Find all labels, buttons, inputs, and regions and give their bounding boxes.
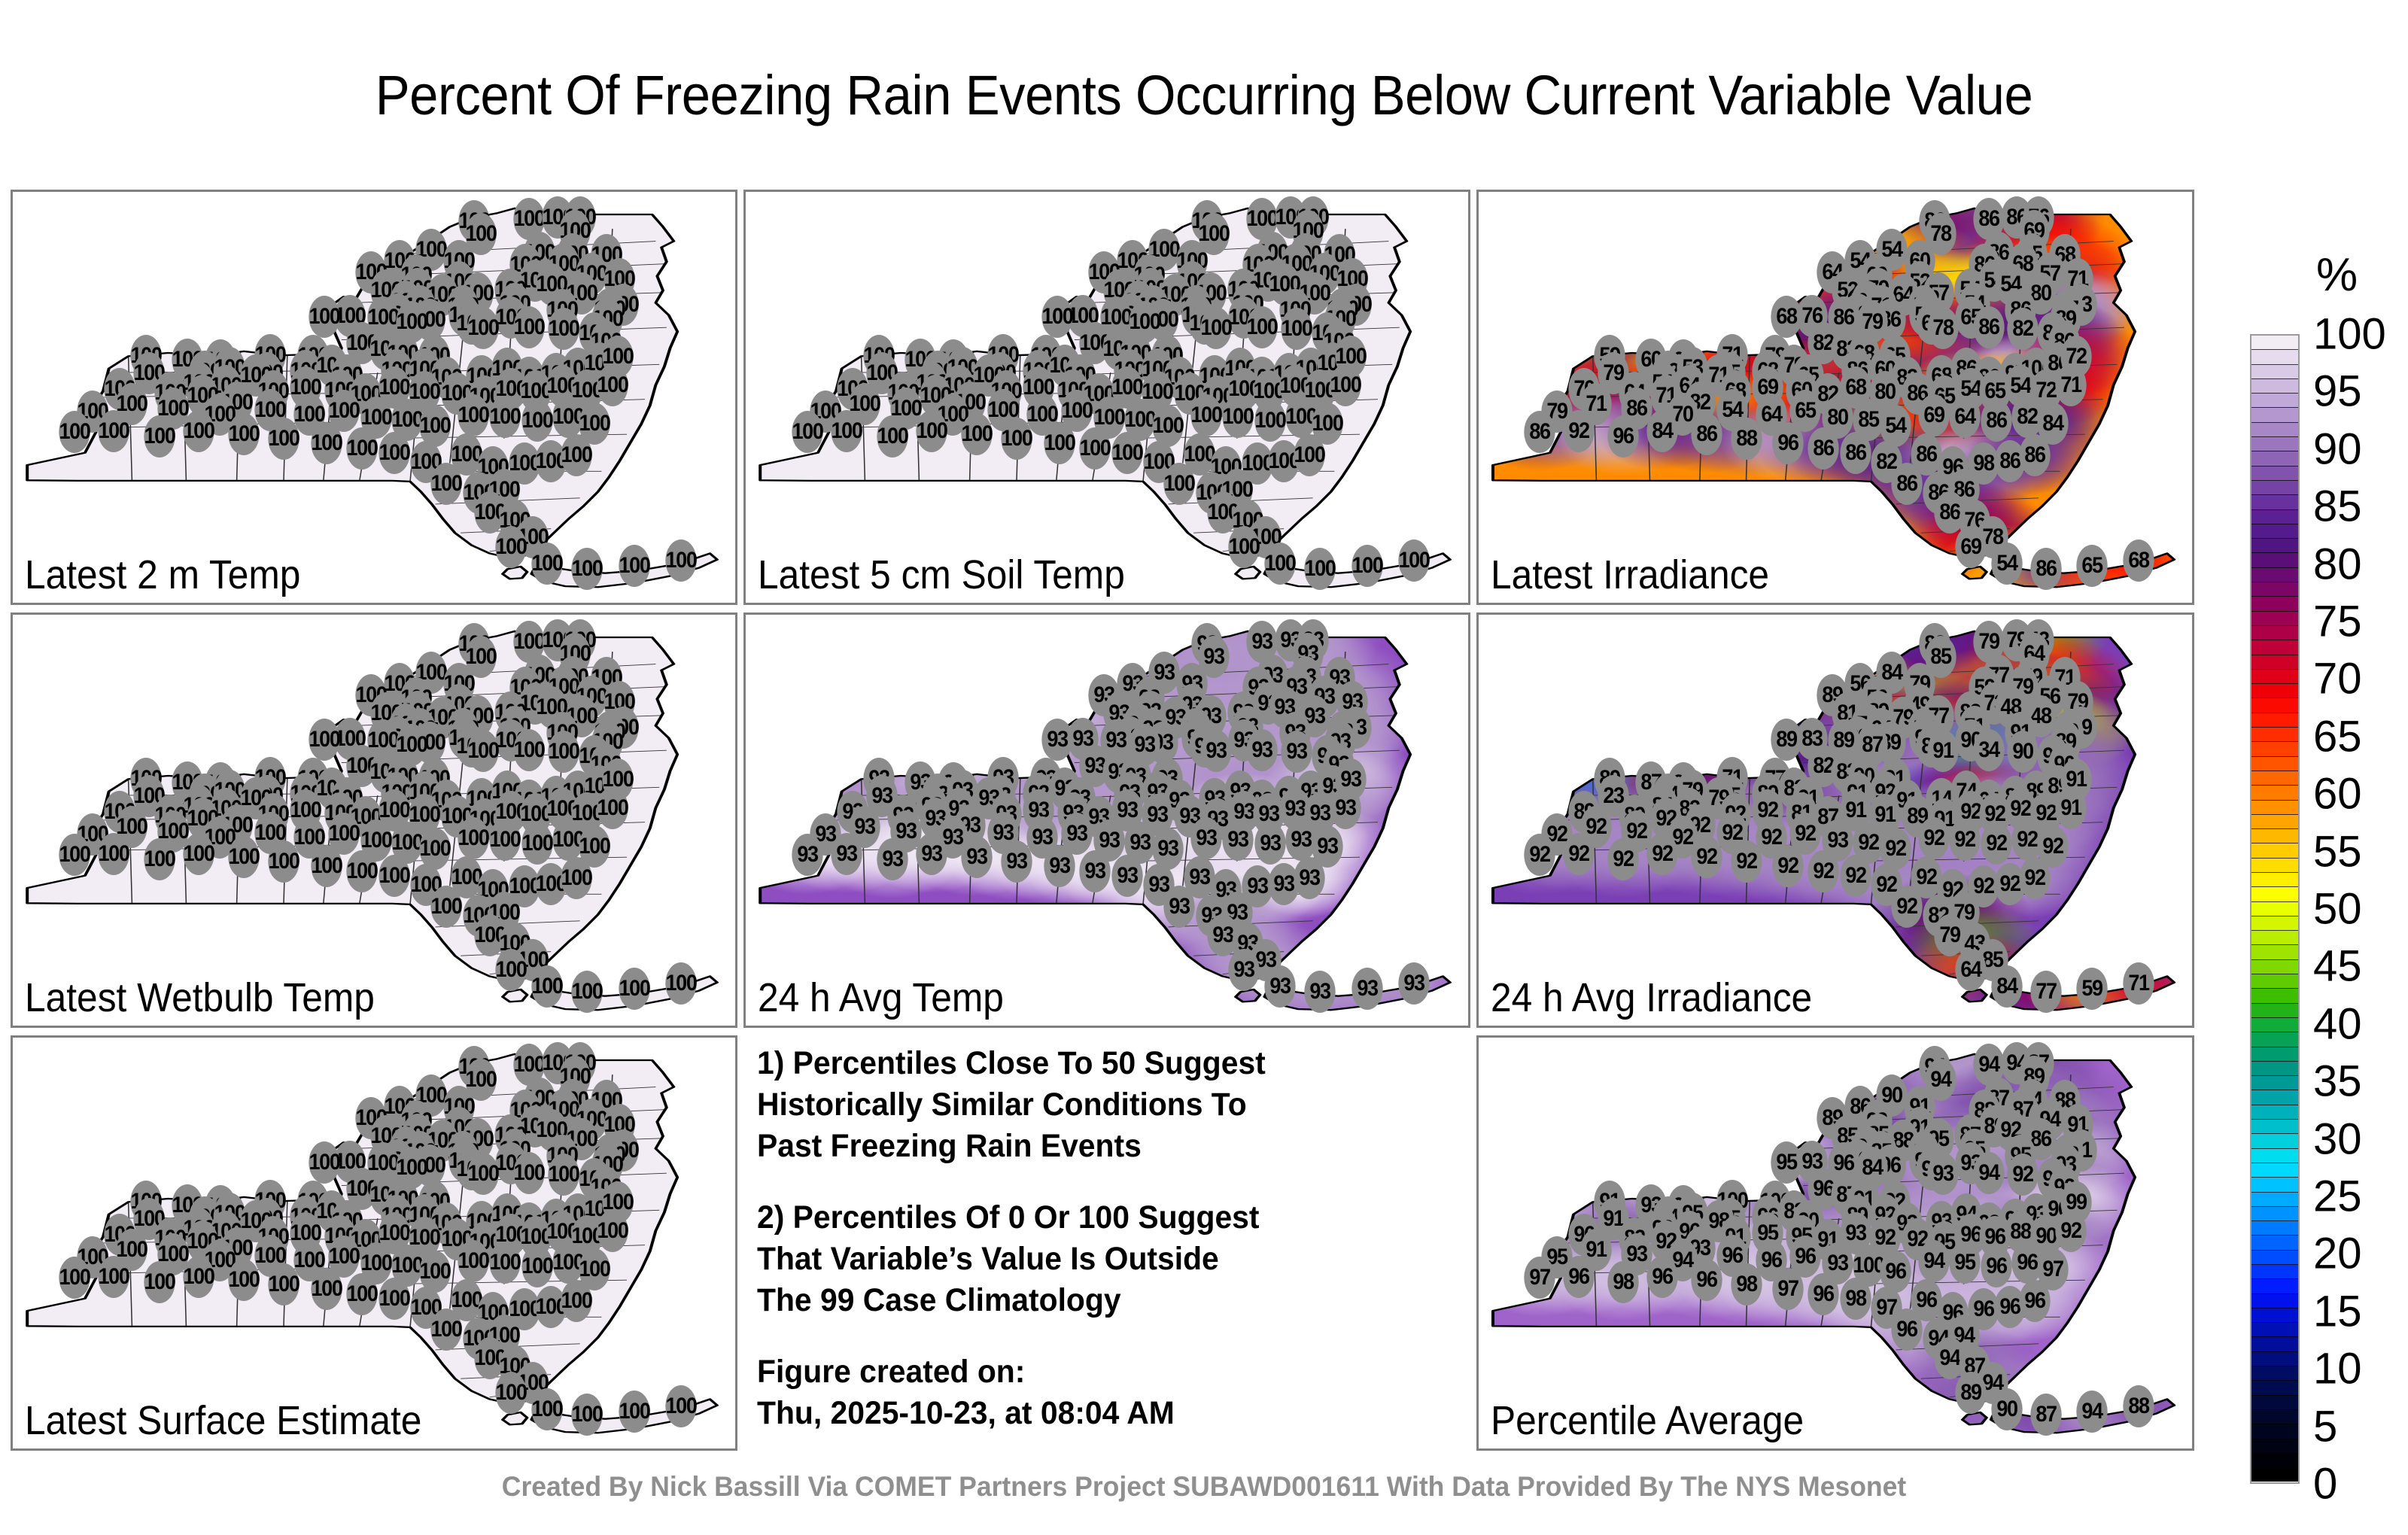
colorbar-tick-label: 80 (2313, 539, 2362, 589)
map-avg-24h-temp (746, 615, 1468, 1026)
colorbar-band (2251, 843, 2298, 858)
colorbar-band (2251, 365, 2298, 379)
colorbar-band (2251, 1062, 2298, 1076)
colorbar-tick-label: 50 (2313, 884, 2362, 935)
colorbar-band (2251, 655, 2298, 670)
colorbar-tick-label: 25 (2313, 1172, 2362, 1222)
colorbar-band (2251, 1047, 2298, 1062)
colorbar-band (2251, 379, 2298, 394)
colorbar-band (2251, 801, 2298, 815)
colorbar-band (2251, 1105, 2298, 1120)
note-note2: 2) Percentiles Of 0 Or 100 Suggest That … (757, 1197, 1435, 1321)
panel-avg-24h-temp: 9393939393939393939393939393939393939393… (743, 612, 1470, 1028)
colorbar-band (2251, 467, 2298, 481)
colorbar-band (2251, 1076, 2298, 1090)
credit-line: Created By Nick Bassill Via COMET Partne… (48, 1471, 2360, 1503)
colorbar-band (2251, 1207, 2298, 1221)
colorbar-band (2251, 350, 2298, 364)
colorbar-band (2251, 989, 2298, 1003)
colorbar-band (2251, 1120, 2298, 1134)
colorbar-band (2251, 1236, 2298, 1250)
colorbar-band (2251, 394, 2298, 408)
panel-latest-wetbulb-temp: 1001001001001001001001001001001001001001… (11, 612, 737, 1028)
colorbar-band (2251, 713, 2298, 728)
map-latest-5cm-soil-temp (746, 192, 1468, 603)
colorbar-band (2251, 1163, 2298, 1178)
colorbar-band (2251, 771, 2298, 786)
colorbar-band (2251, 1352, 2298, 1366)
colorbar-band (2251, 1134, 2298, 1148)
colorbar-band (2251, 1032, 2298, 1047)
colorbar-band (2251, 582, 2298, 597)
colorbar-band (2251, 1366, 2298, 1381)
colorbar-band (2251, 931, 2298, 945)
colorbar-band (2251, 960, 2298, 974)
colorbar-band (2251, 597, 2298, 611)
colorbar-band (2251, 1251, 2298, 1265)
colorbar-band (2251, 437, 2298, 451)
panel-label-latest-wetbulb-temp: Latest Wetbulb Temp (25, 974, 375, 1021)
colorbar-band (2251, 742, 2298, 756)
map-avg-24h-irradiance (1479, 615, 2192, 1026)
colorbar-band (2251, 916, 2298, 931)
colorbar-gradient (2250, 334, 2300, 1484)
colorbar-band (2251, 873, 2298, 887)
note-note1: 1) Percentiles Close To 50 Suggest Histo… (757, 1043, 1435, 1167)
colorbar-band (2251, 728, 2298, 742)
colorbar-band (2251, 945, 2298, 959)
panel-label-latest-irradiance: Latest Irradiance (1491, 552, 1769, 598)
colorbar-band (2251, 1149, 2298, 1163)
colorbar-band (2251, 1323, 2298, 1337)
colorbar-band (2251, 684, 2298, 698)
panel-latest-2m-temp: 1001001001001001001001001001001001001001… (11, 190, 737, 605)
panel-latest-surface-estimate: 1001001001001001001001001001001001001001… (11, 1035, 737, 1451)
colorbar-band (2251, 1294, 2298, 1309)
map-latest-surface-estimate (13, 1038, 735, 1448)
colorbar-band (2251, 1221, 2298, 1236)
colorbar-tick-label: 75 (2313, 597, 2362, 647)
colorbar-band (2251, 815, 2298, 829)
colorbar-band (2251, 859, 2298, 873)
colorbar-band (2251, 1381, 2298, 1395)
colorbar-tick-label: 35 (2313, 1056, 2362, 1107)
colorbar-tick-label: 85 (2313, 482, 2362, 532)
colorbar-tick-label: 40 (2313, 999, 2362, 1049)
colorbar-band (2251, 495, 2298, 509)
colorbar-band (2251, 612, 2298, 626)
map-latest-irradiance (1479, 192, 2192, 603)
panel-label-avg-24h-irradiance: 24 h Avg Irradiance (1491, 974, 1812, 1021)
colorbar-band (2251, 640, 2298, 655)
panel-label-percentile-average: Percentile Average (1491, 1397, 1804, 1444)
colorbar-band (2251, 1265, 2298, 1279)
colorbar-tick-label: 15 (2313, 1286, 2362, 1336)
colorbar-band (2251, 902, 2298, 916)
colorbar-tick-label: 30 (2313, 1114, 2362, 1164)
colorbar-band (2251, 524, 2298, 539)
map-latest-wetbulb-temp (13, 615, 735, 1026)
note-note3: Figure created on: Thu, 2025-10-23, at 0… (757, 1351, 1435, 1434)
colorbar-band (2251, 510, 2298, 524)
colorbar-tick-label: 20 (2313, 1229, 2362, 1279)
colorbar-band (2251, 423, 2298, 437)
colorbar-band (2251, 974, 2298, 989)
panel-percentile-average: 9494948794899087948886918887949189939189… (1476, 1035, 2194, 1451)
colorbar-band (2251, 757, 2298, 771)
colorbar-tick-label: 90 (2313, 424, 2362, 474)
colorbar-band (2251, 1396, 2298, 1410)
colorbar-tick-label: 60 (2313, 769, 2362, 819)
colorbar-band (2251, 481, 2298, 495)
colorbar-band (2251, 670, 2298, 684)
colorbar-band (2251, 1309, 2298, 1323)
colorbar-band (2251, 887, 2298, 901)
panel-avg-24h-irradiance: 8279794385648477597156795979567989564973… (1476, 612, 2194, 1028)
colorbar-band (2251, 1424, 2298, 1439)
colorbar-band (2251, 539, 2298, 553)
panel-label-latest-surface-estimate: Latest Surface Estimate (25, 1397, 421, 1444)
colorbar-unit-label: % (2316, 248, 2358, 302)
map-latest-2m-temp (13, 192, 735, 603)
panel-latest-5cm-soil-temp: 1001001001001001001001001001001001001001… (743, 190, 1470, 605)
panel-grid: 1001001001001001001001001001001001001001… (11, 190, 2182, 1452)
colorbar-band (2251, 1018, 2298, 1032)
panel-label-avg-24h-temp: 24 h Avg Temp (758, 974, 1004, 1021)
panel-notes: 1) Percentiles Close To 50 Suggest Histo… (743, 1035, 1470, 1451)
colorbar-band (2251, 336, 2298, 350)
colorbar-band (2251, 1090, 2298, 1105)
colorbar-band (2251, 1178, 2298, 1192)
colorbar-tick-label: 65 (2313, 711, 2362, 761)
colorbar-band (2251, 1193, 2298, 1207)
colorbar-band (2251, 408, 2298, 422)
colorbar-band (2251, 1454, 2298, 1468)
colorbar-band (2251, 829, 2298, 843)
colorbar-band (2251, 1004, 2298, 1018)
panel-label-latest-2m-temp: Latest 2 m Temp (25, 552, 300, 598)
colorbar-tick-label: 70 (2313, 654, 2362, 704)
colorbar-tick-label: 5 (2313, 1401, 2337, 1451)
colorbar-band (2251, 1439, 2298, 1454)
colorbar-ticks: 1009590858075706560555045403530252015105… (2313, 334, 2408, 1484)
colorbar-band (2251, 1279, 2298, 1293)
colorbar-tick-label: 95 (2313, 366, 2362, 417)
colorbar-band (2251, 568, 2298, 582)
colorbar-tick-label: 45 (2313, 941, 2362, 992)
colorbar-band (2251, 786, 2298, 800)
panel-label-latest-5cm-soil-temp: Latest 5 cm Soil Temp (758, 552, 1125, 598)
colorbar-band (2251, 626, 2298, 640)
map-percentile-average (1479, 1038, 2192, 1448)
colorbar-tick-label: 100 (2313, 309, 2386, 360)
colorbar-band (2251, 698, 2298, 713)
colorbar-band (2251, 451, 2298, 466)
colorbar-tick-label: 55 (2313, 826, 2362, 877)
colorbar-band (2251, 1410, 2298, 1424)
colorbar-band (2251, 553, 2298, 567)
colorbar-band (2251, 1337, 2298, 1351)
panel-latest-irradiance: 8686867678695486656854608668577164605254… (1476, 190, 2194, 605)
page-title: Percent Of Freezing Rain Events Occurrin… (84, 63, 2324, 127)
colorbar-tick-label: 10 (2313, 1344, 2362, 1394)
